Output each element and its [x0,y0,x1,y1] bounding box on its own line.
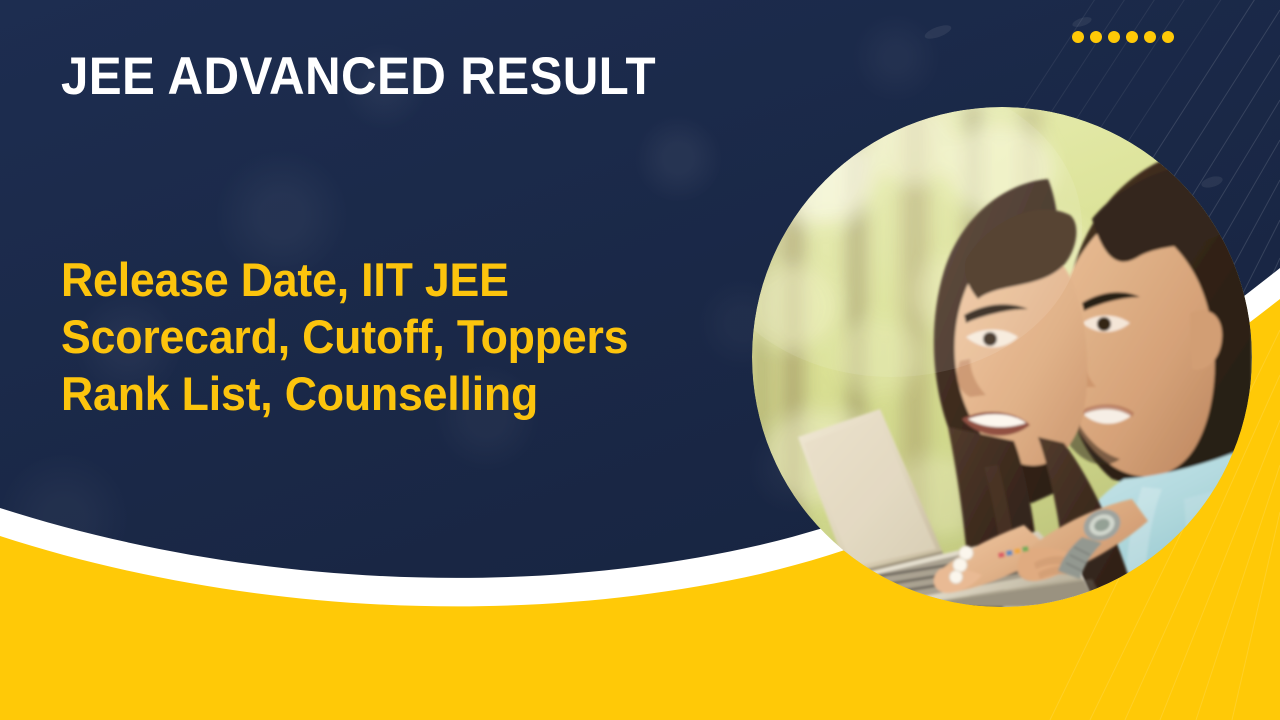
students-photo-circle [752,107,1252,607]
banner-headline: JEE ADVANCED RESULT [61,48,656,105]
dot-icon [1126,31,1138,43]
dot-icon [1108,31,1120,43]
jee-advanced-result-banner: JEE ADVANCED RESULT Release Date, IIT JE… [0,0,1280,720]
dot-icon [1072,31,1084,43]
dot-icon [1144,31,1156,43]
decorative-dot-row [1072,31,1174,43]
dot-icon [1090,31,1102,43]
banner-subheadline: Release Date, IIT JEE Scorecard, Cutoff,… [61,251,631,422]
dot-icon [1162,31,1174,43]
